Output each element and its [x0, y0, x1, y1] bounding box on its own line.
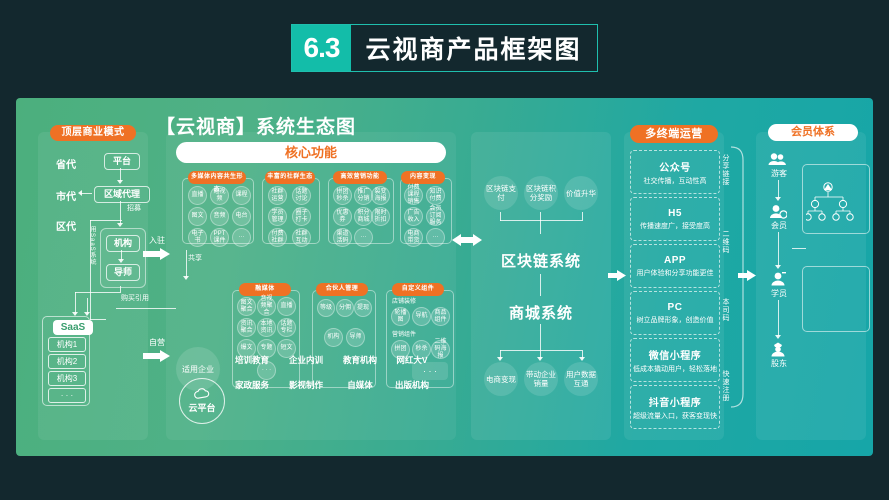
- connector: [500, 350, 582, 351]
- core-item: 拼团秒杀: [333, 186, 352, 205]
- terminal-name: APP: [664, 255, 686, 266]
- connector: [540, 324, 541, 350]
- core-group-3-title: 高效营销功能: [333, 171, 387, 184]
- saas-item: 机构1: [48, 337, 86, 352]
- core-group-1-title: 多媒体内容共生形态: [188, 171, 246, 184]
- mall-system-title: 商城系统: [471, 302, 611, 323]
- arrow-head: [775, 265, 781, 269]
- node-org: 机构: [106, 235, 140, 252]
- reward-line: 团队奖励: [802, 296, 873, 305]
- connector: [540, 220, 541, 234]
- core-item: 直播: [277, 297, 296, 316]
- terminal-card: 抖音小程序 超级流量入口，获客变现快: [630, 385, 720, 429]
- middle-top-circle: 价值升华: [564, 176, 598, 210]
- terminal-card: PC 树立品牌形象，创造价值: [630, 291, 720, 335]
- industry-tag: 教育机构: [336, 354, 384, 366]
- core-group-6-title: 合伙人管理: [316, 283, 368, 296]
- core-item: 导航: [412, 307, 431, 326]
- section-number: 6.3: [292, 25, 352, 71]
- core-item: 优惠券: [333, 207, 352, 226]
- student-icon: [770, 272, 786, 286]
- shareholder-icon: [770, 342, 786, 357]
- core-item: 轮播图: [391, 307, 410, 326]
- core-functions-heading: 核心功能: [176, 142, 446, 163]
- side-label-share-link: 分享链接: [720, 154, 730, 186]
- industry-tag: 出版机构: [388, 379, 436, 391]
- core-item: ···: [426, 228, 445, 247]
- title-box: 6.3 云视商产品框架图: [291, 24, 599, 72]
- left-column-badge: 顶层商业模式: [50, 125, 136, 141]
- core-item: 图文聚合: [237, 297, 256, 316]
- arrow-head: [775, 197, 781, 201]
- connector: [778, 180, 779, 198]
- connector: [120, 286, 121, 293]
- terminal-desc: 超级流量入口，获客变现快: [633, 411, 717, 421]
- terminal-name: PC: [668, 302, 683, 313]
- core-item: 限时折扣: [371, 207, 390, 226]
- industry-tag: 企业内训: [282, 354, 330, 366]
- core-item: 商品组件: [431, 307, 450, 326]
- core-item: 裂变海报: [371, 186, 390, 205]
- title-bar: 6.3 云视商产品框架图: [0, 0, 889, 95]
- terminal-name: H5: [668, 208, 682, 219]
- visitor-icon: [768, 152, 786, 166]
- gene-relation-title: 基因关系: [802, 168, 873, 179]
- core-item: 本地资讯: [257, 318, 276, 337]
- core-item: ···: [354, 228, 373, 247]
- tier-label-2: 市代: [56, 188, 76, 203]
- core-item: 提现: [354, 299, 372, 317]
- connector: [90, 319, 106, 320]
- saas-item: 机构3: [48, 371, 86, 386]
- connector: [87, 298, 88, 314]
- industry-tag: 影视制作: [282, 379, 330, 391]
- core-item: 短视频: [210, 186, 229, 205]
- industry-tag: 自媒体: [336, 379, 384, 391]
- middle-top-circle: 区块链支付: [484, 176, 518, 210]
- core-item: 电商带货: [404, 228, 423, 247]
- page-title: 云视商产品框架图: [351, 25, 597, 71]
- saas-item: · · ·: [48, 388, 86, 403]
- terminals-badge: 多终端运营: [630, 125, 718, 143]
- reward-line: 0-2级推广奖励: [802, 285, 873, 294]
- connector: [500, 220, 582, 221]
- purchase-label: 购买引用: [114, 294, 156, 303]
- core-item: 电台: [232, 207, 251, 226]
- core-item: 知识付费: [426, 186, 445, 205]
- recruit-label: 招募: [122, 204, 146, 213]
- core-item: 课程: [232, 186, 251, 205]
- node-platform: 平台: [104, 153, 140, 170]
- connector: [778, 232, 779, 266]
- node-region-agent: 区域代理: [94, 186, 150, 203]
- connector: [90, 220, 91, 320]
- member-level-label: 会员: [762, 220, 796, 231]
- core-item: 音频: [210, 207, 229, 226]
- core-item: 会员订阅服务: [426, 207, 445, 226]
- core-item: PPT课件: [210, 228, 229, 247]
- core-group-4-title: 内容变现: [401, 171, 445, 184]
- core-group-7-sub-1: 店铺装修: [392, 298, 422, 307]
- industry-more: · · ·: [412, 362, 448, 380]
- cloud-platform-label: 云平台: [188, 401, 215, 414]
- reward-line: ······: [802, 318, 873, 327]
- core-item: 电子书: [188, 228, 207, 247]
- connector: [778, 300, 779, 336]
- member-level-label: 股东: [762, 358, 796, 369]
- connector: [792, 248, 806, 249]
- arrow-head: [579, 357, 585, 361]
- core-group-7-title: 自定义组件: [392, 283, 444, 296]
- core-group-5-title: 融媒体: [239, 283, 291, 296]
- connector: [500, 212, 501, 221]
- core-item: ···: [232, 228, 251, 247]
- gene-tree-diagram: [806, 180, 864, 228]
- core-group-2-title: 丰富的社群生态: [265, 171, 315, 184]
- core-item: 话题专栏: [277, 318, 296, 337]
- arrow-head: [78, 190, 82, 196]
- connector: [75, 292, 120, 293]
- side-label-company-code: 本司码: [720, 298, 730, 322]
- terminal-name: 公众号: [659, 159, 691, 174]
- terminal-card: APP 用户体验和分享功能更佳: [630, 244, 720, 288]
- arrow-head: [537, 357, 543, 361]
- terminal-card: H5 传播速度广，接受度高: [630, 197, 720, 241]
- blockchain-system-title: 区块链系统: [471, 250, 611, 271]
- connector: [540, 274, 541, 296]
- member-icon: [769, 204, 787, 219]
- terminal-card: 公众号 社交传播，互动性高: [630, 150, 720, 194]
- middle-bottom-circle: 用户数据互通: [564, 362, 598, 396]
- reward-line: 绩效分红: [802, 307, 873, 316]
- member-level-label: 游客: [762, 168, 796, 179]
- core-item: 机构: [324, 328, 343, 347]
- saas-item: 机构2: [48, 354, 86, 369]
- core-item: 图文: [188, 207, 207, 226]
- core-item: 渠道活码: [333, 228, 352, 247]
- terminal-card: 微信小程序 低成本撬动用户，轻松落地: [630, 338, 720, 382]
- arrow-head: [118, 259, 124, 263]
- arrow-head: [497, 357, 503, 361]
- middle-bottom-circle: 电商变现: [484, 362, 518, 396]
- industry-tag: 家政服务: [228, 379, 276, 391]
- terminal-name: 微信小程序: [649, 347, 702, 362]
- core-item: 付费社群: [268, 228, 287, 247]
- core-item: 圈子打卡: [292, 207, 311, 226]
- arrow-head: [183, 276, 189, 280]
- reward-mode-title: 奖励模式: [802, 271, 873, 283]
- tier-label-3: 区代: [56, 218, 76, 233]
- core-item: 等级: [317, 299, 335, 317]
- core-item: 音视频聚合: [257, 297, 276, 316]
- terminal-desc: 低成本撬动用户，轻松落地: [633, 364, 717, 374]
- diagram-panel: 【云视商】系统生态图 顶层商业模式 平台 区域代理 省代 市代 区代 招募 机构…: [16, 98, 873, 456]
- core-item: 分佣: [336, 299, 354, 317]
- terminal-desc: 传播速度广，接受度高: [640, 221, 710, 231]
- middle-top-circle: 区块链积分奖励: [524, 176, 558, 210]
- industry-tag: 培训教育: [228, 354, 276, 366]
- terminal-member-arrow-icon: [738, 270, 756, 281]
- share-label: 共享: [188, 254, 208, 263]
- node-mentor: 导师: [106, 264, 140, 281]
- terminal-desc: 树立品牌形象，创造价值: [637, 315, 714, 325]
- apply-industries-circle: 适用企业: [176, 347, 220, 391]
- core-item: 直播: [188, 186, 207, 205]
- saas-org-list: 机构1 机构2 机构3 · · ·: [42, 316, 90, 406]
- connector: [186, 250, 187, 278]
- side-label-quick-register: 快速注册: [720, 370, 730, 402]
- middle-bottom-circle: 带动企业销量: [524, 362, 558, 396]
- core-item: 学员管理: [268, 207, 287, 226]
- core-item: 资讯聚合: [237, 318, 256, 337]
- tier-label-1: 省代: [56, 156, 76, 171]
- arrow-head: [775, 335, 781, 339]
- connector: [75, 292, 76, 314]
- arrow-head: [117, 223, 123, 227]
- core-item: 社群运营: [268, 186, 287, 205]
- core-item: 广告收入: [404, 207, 423, 226]
- core-item: 社群互动: [292, 228, 311, 247]
- connector: [582, 212, 583, 221]
- terminal-desc: 社交传播，互动性高: [644, 176, 707, 186]
- terminal-name: 抖音小程序: [649, 394, 702, 409]
- core-item: 导师: [346, 328, 365, 347]
- arrow-head: [117, 180, 123, 184]
- members-badge: 会员体系: [768, 124, 858, 141]
- connector: [90, 220, 122, 221]
- core-item: 付费课程销售: [404, 186, 423, 205]
- member-level-label: 学员: [762, 288, 796, 299]
- side-label-qrcode: 二维码: [720, 230, 730, 254]
- core-group-7-sub-2: 营销组件: [392, 331, 422, 340]
- terminal-desc: 用户体验和分享功能更佳: [637, 268, 714, 278]
- core-item: 话题讨论: [292, 186, 311, 205]
